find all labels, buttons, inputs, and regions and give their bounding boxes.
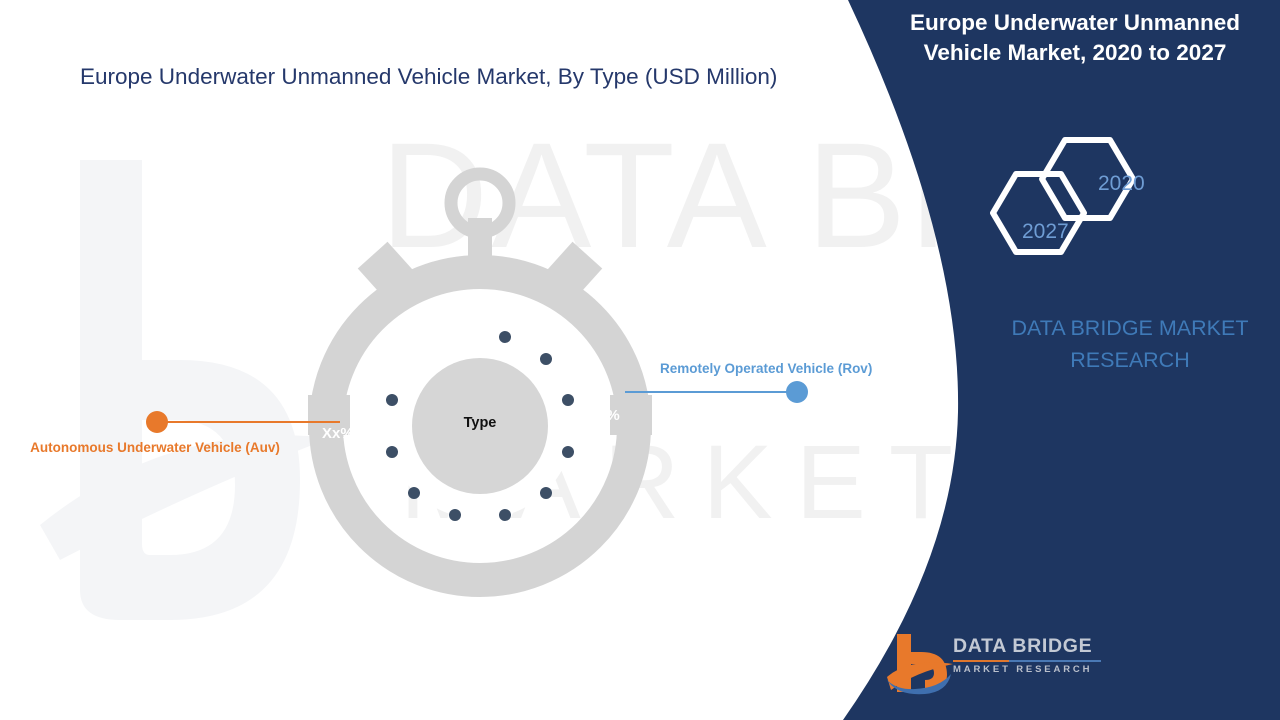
logo-subtitle: MARKET RESEARCH [953, 665, 1101, 675]
callout-line-rov [625, 391, 795, 393]
panel-title: Europe Underwater Unmanned Vehicle Marke… [880, 8, 1270, 68]
callout-dot-rov[interactable] [786, 381, 808, 403]
hexagon-label-2027: 2027 [1022, 220, 1069, 244]
page-title: Europe Underwater Unmanned Vehicle Marke… [80, 64, 777, 90]
donut-chart [300, 150, 660, 620]
hexagon-label-2020: 2020 [1098, 172, 1145, 196]
segment-percent-auv: Xx% [322, 425, 354, 442]
center-disc [412, 358, 548, 494]
callout-dot-auv[interactable] [146, 411, 168, 433]
hexagon-badges [985, 128, 1185, 278]
callout-label-auv: Autonomous Underwater Vehicle (Auv) [30, 438, 280, 458]
logo-title: DATA BRIDGE [953, 636, 1101, 657]
databridge-b-icon [885, 630, 955, 696]
infographic-canvas: DATA BRIDGE MARKET RESEARCH Europe Under… [0, 0, 1280, 720]
callout-line-auv [160, 421, 340, 423]
panel-caption: DATA BRIDGE MARKET RESEARCH [985, 312, 1275, 377]
segment-percent-rov: Xx% [588, 407, 620, 424]
callout-label-rov: Remotely Operated Vehicle (Rov) [660, 359, 950, 379]
logo-divider [953, 660, 1101, 662]
databridge-logo: DATA BRIDGE MARKET RESEARCH [885, 630, 1100, 700]
